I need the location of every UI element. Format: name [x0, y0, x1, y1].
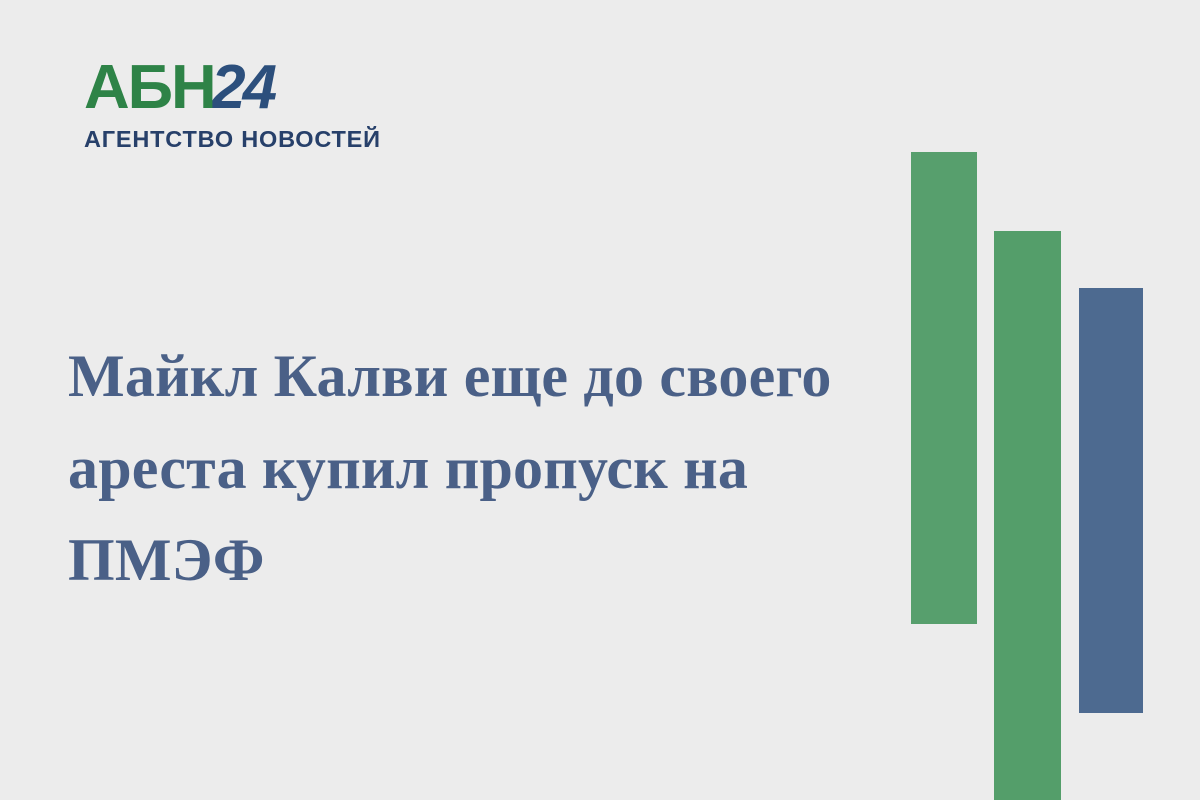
logo-text-abn: АБН	[84, 57, 215, 119]
page-title: Майкл Калви еще до своего ареста купил п…	[68, 330, 868, 606]
logo-wordmark: АБН 24	[84, 57, 374, 119]
logo-tagline: АГЕНТСТВО НОВОСТЕЙ	[84, 126, 374, 153]
decorative-bar-2	[994, 231, 1061, 800]
headline-line-3: ПМЭФ	[68, 514, 868, 606]
news-share-card: АБН 24 АГЕНТСТВО НОВОСТЕЙ Майкл Калви ещ…	[0, 0, 1200, 800]
logo-text-24: 24	[211, 57, 274, 119]
decorative-bar-1	[911, 152, 977, 624]
headline-line-2: ареста купил пропуск на	[68, 422, 868, 514]
decorative-bar-3	[1079, 288, 1143, 713]
bar-graphic	[905, 0, 1200, 800]
abn24-logo[interactable]: АБН 24 АГЕНТСТВО НОВОСТЕЙ	[84, 57, 374, 153]
headline-line-1: Майкл Калви еще до своего	[68, 330, 868, 422]
